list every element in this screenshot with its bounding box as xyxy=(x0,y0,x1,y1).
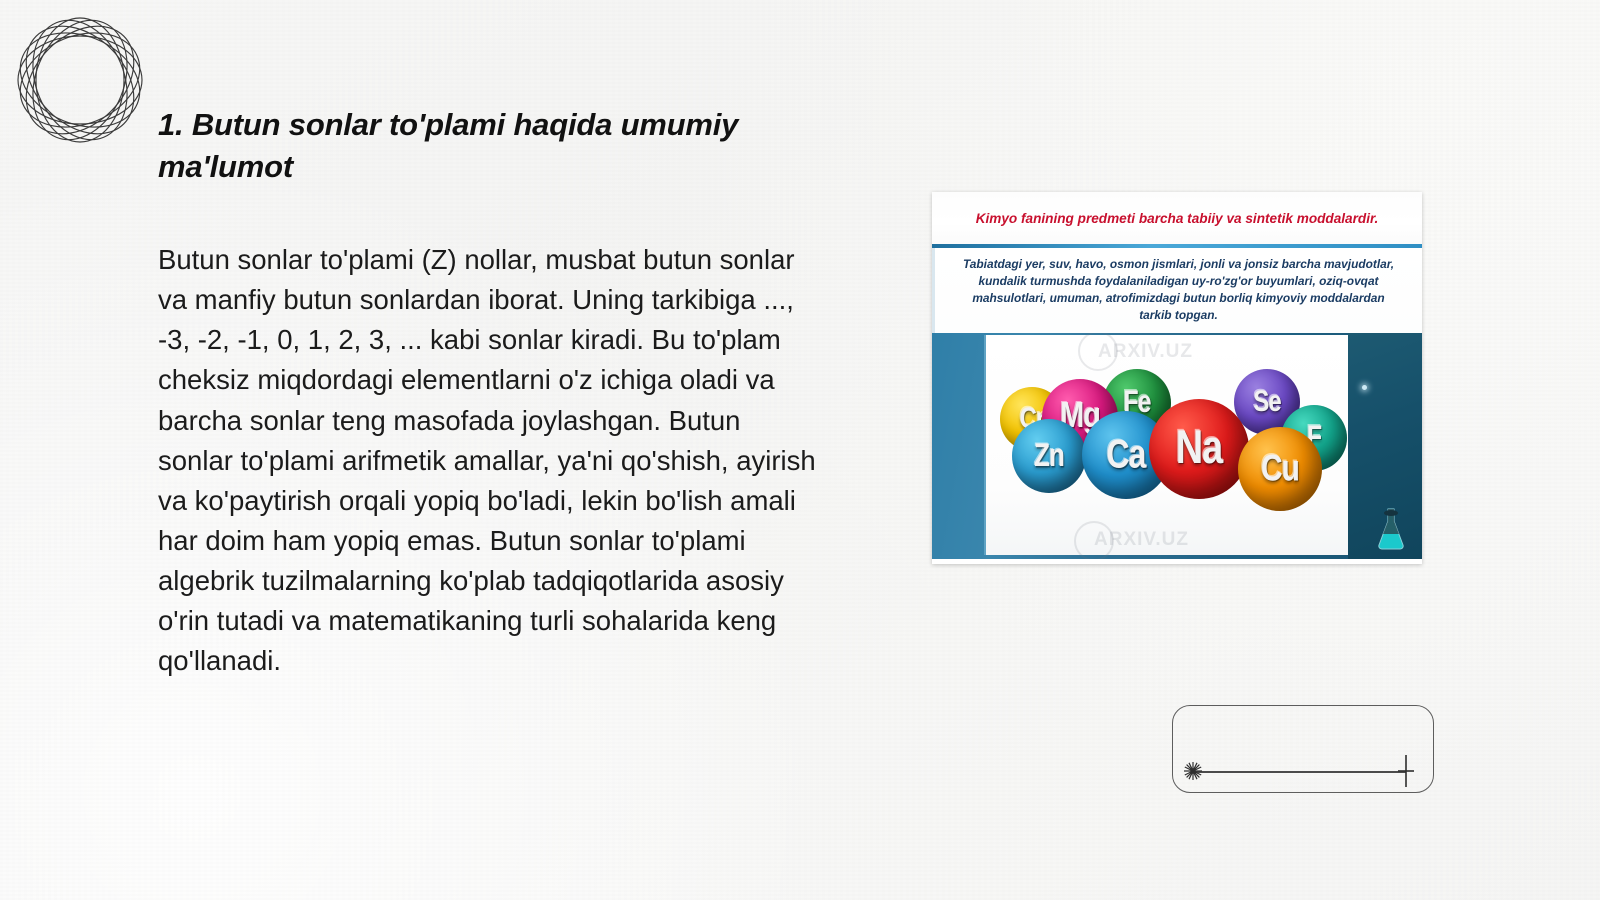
plus-cross-icon xyxy=(1398,755,1414,787)
element-ball-zn: Zn xyxy=(1012,419,1086,493)
watermark-bottom: ARXIV.UZ xyxy=(1094,529,1189,551)
card-subtext: Tabiatdagi yer, suv, havo, osmon jismlar… xyxy=(957,256,1400,324)
decorative-rounded-frame xyxy=(1172,705,1434,793)
spirograph-flower-icon xyxy=(4,4,156,156)
photo-stage: ARXIV.UZ ARXIV.UZ Fe Se Cr Mg F Zn xyxy=(984,335,1348,555)
sparkle-decoration xyxy=(1362,385,1367,390)
decorative-horizontal-line xyxy=(1193,771,1406,773)
element-symbol: Ca xyxy=(1107,432,1146,478)
element-symbol: Na xyxy=(1176,422,1223,476)
element-symbol: Se xyxy=(1253,384,1280,419)
card-heading-section: Kimyo fanining predmeti barcha tabiiy va… xyxy=(932,192,1422,248)
watermark-ring-top xyxy=(1078,333,1118,371)
photo-right-panel xyxy=(1348,333,1422,559)
slide-body-text: Butun sonlar to'plami (Z) nollar, musbat… xyxy=(158,240,818,682)
card-heading-text: Kimyo fanining predmeti barcha tabiiy va… xyxy=(976,210,1379,228)
card-subtext-section: Tabiatdagi yer, suv, havo, osmon jismlar… xyxy=(932,248,1422,333)
element-symbol: Zn xyxy=(1034,436,1064,475)
flask-icon xyxy=(1374,507,1408,553)
asterisk-burst-icon xyxy=(1183,761,1203,781)
slide-title: 1. Butun sonlar to'plami haqida umumiy m… xyxy=(158,104,798,187)
chemistry-image-card: Kimyo fanining predmeti barcha tabiiy va… xyxy=(932,192,1422,564)
element-ball-na: Na xyxy=(1149,399,1249,499)
watermark-top: ARXIV.UZ xyxy=(1098,341,1193,363)
card-photo-section: ARXIV.UZ ARXIV.UZ Fe Se Cr Mg F Zn xyxy=(932,333,1422,559)
element-symbol: Cu xyxy=(1261,447,1299,490)
element-ball-cu: Cu xyxy=(1238,427,1322,511)
card-heading-divider xyxy=(932,244,1422,248)
watermark-ring-bottom xyxy=(1074,521,1114,559)
